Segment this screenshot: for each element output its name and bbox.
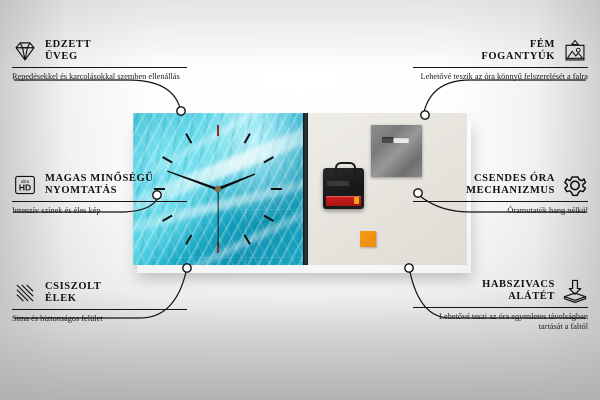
feature-title: EDZETT ÜVEG	[45, 39, 91, 64]
feature-callout-foam: HABSZIVACS ALÁTÉT Lehetővé teszi az óra …	[413, 278, 588, 332]
metal-hanger-plate	[371, 125, 422, 177]
feature-divider	[413, 307, 588, 308]
clock-tick	[162, 156, 173, 163]
gear-icon	[562, 172, 588, 198]
feature-head: CSENDES ÓRA MECHANIZMUS	[413, 172, 588, 198]
clock-tick	[263, 215, 274, 222]
foam-pad-arrow-icon	[562, 278, 588, 304]
feature-description: Intenzív színek és éles kép	[12, 206, 187, 216]
feature-head: HABSZIVACS ALÁTÉT	[413, 278, 588, 304]
feature-callout-edges: CSISZOLT ÉLEK Sima és biztonságos felüle…	[12, 280, 187, 324]
diamond-icon	[12, 38, 38, 64]
feature-title: HABSZIVACS ALÁTÉT	[482, 279, 555, 304]
clock-tick	[217, 125, 219, 136]
feature-description: Óramutatók hang nélkül	[413, 206, 588, 216]
feature-title: CSENDES ÓRA MECHANIZMUS	[466, 173, 555, 198]
feature-head: ultra HD MAGAS MINŐSÉGŰ NYOMTATÁS	[12, 172, 187, 198]
feature-divider	[12, 309, 187, 310]
svg-text:HD: HD	[19, 183, 31, 193]
polished-edges-icon	[12, 280, 38, 306]
infographic-canvas: EDZETT ÜVEG Repedésekkel és karcolásokka…	[0, 0, 600, 400]
feature-head: CSISZOLT ÉLEK	[12, 280, 187, 306]
clock-center-cap	[215, 186, 221, 192]
feature-title: CSISZOLT ÉLEK	[45, 281, 101, 306]
hanger-slot	[382, 137, 409, 143]
feature-head: FÉM FOGANTYÚK	[413, 38, 588, 64]
clock-tick	[263, 156, 274, 163]
feature-divider	[12, 201, 187, 202]
mechanism-detail	[327, 181, 349, 186]
feature-callout-mechanism: CSENDES ÓRA MECHANIZMUS Óramutatók hang …	[413, 172, 588, 216]
clock-tick	[271, 188, 282, 190]
feature-divider	[413, 201, 588, 202]
clock-tick	[244, 133, 251, 144]
feature-divider	[12, 67, 187, 68]
feature-title: FÉM FOGANTYÚK	[481, 39, 555, 64]
feature-description: Lehetővé teszi az óra egyenletes távolsá…	[413, 312, 588, 332]
clock-tick	[185, 133, 192, 144]
picture-frame-hanger-icon	[562, 38, 588, 64]
feature-divider	[413, 67, 588, 68]
clock-hour-hand	[217, 172, 256, 191]
clock-tick	[185, 234, 192, 245]
feature-description: Repedésekkel és karcolásokkal szemben el…	[12, 72, 187, 82]
feature-title: MAGAS MINŐSÉGŰ NYOMTATÁS	[45, 173, 153, 198]
mechanism-battery	[326, 196, 361, 206]
clock-second-hand	[217, 189, 218, 247]
feature-description: Lehetővé teszik az óra könnyű felszerelé…	[413, 72, 588, 82]
mechanism-hook	[335, 162, 356, 173]
quiet-clock-mechanism	[323, 168, 364, 209]
feature-description: Sima és biztonságos felület	[12, 314, 187, 324]
feature-callout-handles: FÉM FOGANTYÚK Lehetővé teszik az óra kön…	[413, 38, 588, 82]
foam-spacer-pad	[360, 231, 376, 247]
feature-callout-print: ultra HD MAGAS MINŐSÉGŰ NYOMTATÁS Intenz…	[12, 172, 187, 216]
ultra-hd-icon: ultra HD	[12, 172, 38, 198]
clock-tick	[244, 234, 251, 245]
feature-callout-glass: EDZETT ÜVEG Repedésekkel és karcolásokka…	[12, 38, 187, 82]
feature-head: EDZETT ÜVEG	[12, 38, 187, 64]
